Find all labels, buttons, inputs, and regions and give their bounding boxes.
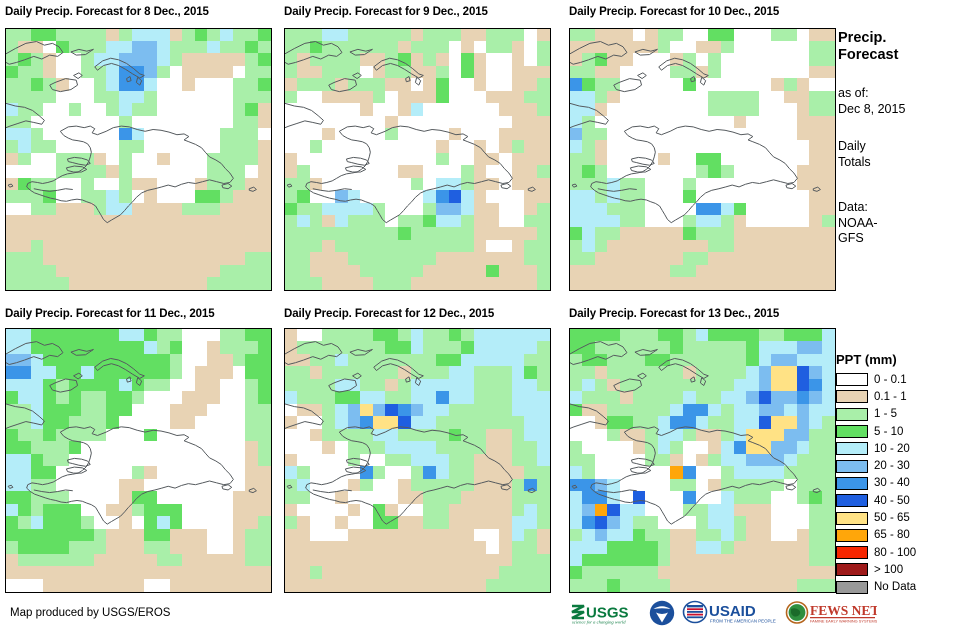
precip-raster-map-panel-dec-11: [6, 329, 271, 592]
legend-title: PPT (mm): [836, 352, 968, 367]
info-sidebar: Precip. Forecast as of: Dec 8, 2015 Dail…: [838, 30, 968, 247]
legend-entries: 0 - 0.10.1 - 11 - 55 - 1010 - 2020 - 303…: [836, 371, 968, 596]
legend-row: 10 - 20: [836, 440, 968, 457]
noaa-logo: [649, 600, 675, 626]
legend: PPT (mm) 0 - 0.10.1 - 11 - 55 - 1010 - 2…: [836, 352, 968, 596]
map-credit: Map produced by USGS/EROS: [10, 607, 170, 619]
sidebar-data-line1: NOAA-: [838, 216, 968, 232]
sidebar-heading-line2: Forecast: [838, 47, 968, 64]
sidebar-data-label: Data:: [838, 200, 968, 216]
precip-raster-map-panel-dec-10: [570, 29, 835, 290]
legend-row: 50 - 65: [836, 509, 968, 526]
map-panel-dec-9[interactable]: [284, 28, 551, 291]
sidebar-heading-line1: Precip.: [838, 30, 968, 47]
legend-swatch: [836, 581, 868, 594]
legend-swatch: [836, 529, 868, 542]
legend-row: 0 - 0.1: [836, 371, 968, 388]
legend-label: 20 - 30: [874, 460, 910, 472]
legend-row: 30 - 40: [836, 475, 968, 492]
svg-text:USAID: USAID: [709, 603, 756, 620]
legend-row: 65 - 80: [836, 527, 968, 544]
panel-title-map-panel-dec-9: Daily Precip. Forecast for 9 Dec., 2015: [284, 6, 488, 18]
legend-swatch: [836, 460, 868, 473]
usaid-logo: USAID FROM THE AMERICAN PEOPLE: [682, 600, 778, 626]
precip-raster-map-panel-dec-8: [6, 29, 271, 290]
legend-label: No Data: [874, 581, 916, 593]
panel-title-map-panel-dec-10: Daily Precip. Forecast for 10 Dec., 2015: [569, 6, 779, 18]
legend-swatch: [836, 512, 868, 525]
legend-swatch: [836, 442, 868, 455]
legend-label: 65 - 80: [874, 529, 910, 541]
svg-text:FEWS NET: FEWS NET: [810, 603, 877, 618]
legend-row: 80 - 100: [836, 544, 968, 561]
sidebar-asof: as of: Dec 8, 2015: [838, 86, 968, 117]
sidebar-heading: Precip. Forecast: [838, 30, 968, 64]
sidebar-data-source: Data: NOAA- GFS: [838, 200, 968, 247]
map-panel-dec-12[interactable]: [284, 328, 551, 593]
panel-title-map-panel-dec-11: Daily Precip. Forecast for 11 Dec., 2015: [5, 308, 215, 320]
legend-swatch: [836, 390, 868, 403]
legend-row: 40 - 50: [836, 492, 968, 509]
panel-title-map-panel-dec-13: Daily Precip. Forecast for 13 Dec., 2015: [569, 308, 779, 320]
legend-row: 0.1 - 1: [836, 388, 968, 405]
legend-swatch: [836, 494, 868, 507]
legend-label: 1 - 5: [874, 408, 897, 420]
legend-label: 30 - 40: [874, 477, 910, 489]
map-panel-dec-10[interactable]: [569, 28, 836, 291]
legend-row: 20 - 30: [836, 457, 968, 474]
legend-label: 40 - 50: [874, 495, 910, 507]
map-panel-dec-13[interactable]: [569, 328, 836, 593]
sidebar-asof-label: as of:: [838, 86, 968, 102]
legend-label: 5 - 10: [874, 426, 903, 438]
legend-row: 5 - 10: [836, 423, 968, 440]
fews-net-logo: FEWS NET FAMINE EARLY WARNING SYSTEMS NE…: [785, 600, 877, 626]
legend-row: No Data: [836, 579, 968, 596]
sidebar-asof-date: Dec 8, 2015: [838, 102, 968, 118]
precip-raster-map-panel-dec-9: [285, 29, 550, 290]
panel-title-map-panel-dec-8: Daily Precip. Forecast for 8 Dec., 2015: [5, 6, 209, 18]
sidebar-totals-line1: Daily: [838, 139, 968, 155]
legend-label: 0 - 0.1: [874, 374, 907, 386]
sidebar-data-line2: GFS: [838, 231, 968, 247]
map-panel-dec-11[interactable]: [5, 328, 272, 593]
svg-text:FROM THE AMERICAN PEOPLE: FROM THE AMERICAN PEOPLE: [710, 619, 776, 624]
sidebar-totals: Daily Totals: [838, 139, 968, 170]
legend-label: 10 - 20: [874, 443, 910, 455]
panel-title-map-panel-dec-12: Daily Precip. Forecast for 12 Dec., 2015: [284, 308, 494, 320]
legend-swatch: [836, 563, 868, 576]
legend-row: > 100: [836, 561, 968, 578]
legend-label: 80 - 100: [874, 547, 916, 559]
precip-raster-map-panel-dec-13: [570, 329, 835, 592]
legend-swatch: [836, 408, 868, 421]
legend-swatch: [836, 373, 868, 386]
legend-label: 50 - 65: [874, 512, 910, 524]
map-panel-dec-8[interactable]: [5, 28, 272, 291]
agency-logos: USGS science for a changing world USAID …: [570, 600, 877, 626]
sidebar-totals-line2: Totals: [838, 155, 968, 171]
legend-swatch: [836, 477, 868, 490]
precip-raster-map-panel-dec-12: [285, 329, 550, 592]
legend-label: 0.1 - 1: [874, 391, 907, 403]
legend-swatch: [836, 425, 868, 438]
usgs-logo: USGS science for a changing world: [570, 600, 642, 626]
legend-swatch: [836, 546, 868, 559]
svg-text:FAMINE EARLY WARNING SYSTEMS N: FAMINE EARLY WARNING SYSTEMS NETWORK: [810, 618, 877, 623]
svg-text:science for a changing world: science for a changing world: [572, 620, 626, 625]
legend-row: 1 - 5: [836, 406, 968, 423]
legend-label: > 100: [874, 564, 903, 576]
